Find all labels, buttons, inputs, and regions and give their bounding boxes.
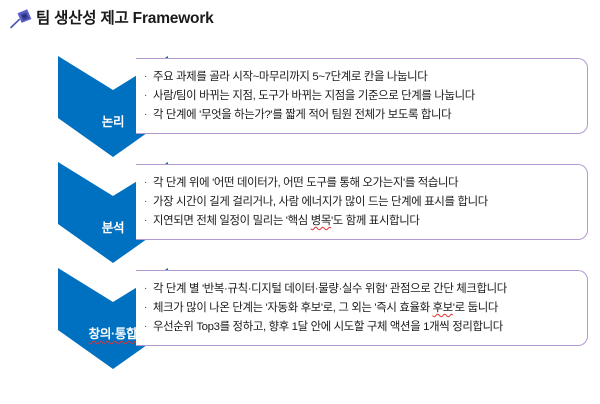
bullet-marker: · — [144, 70, 147, 84]
list-item: · 각 단계에 '무엇을 하는가?'를 짧게 적어 팀원 전체가 보도록 합니다 — [144, 108, 577, 122]
bullet-marker: · — [144, 195, 147, 209]
list-item: · 가장 시간이 길게 걸리거나, 사람 에너지가 많이 드는 단계에 표시를 … — [144, 195, 577, 209]
bullet-text: 주요 과제를 골라 시작~마무리까지 5~7단계로 칸을 나눕니다 — [153, 70, 577, 84]
step-detail-card-2: · 각 단계 위에 '어떤 데이터가, 어떤 도구를 통해 오가는지'를 적습니… — [136, 164, 588, 240]
list-item: · 우선순위 Top3를 정하고, 향후 1달 안에 시도할 구체 액션을 1개… — [144, 320, 577, 334]
bullet-marker: · — [144, 176, 147, 190]
process-step-row: 분석 · 각 단계 위에 '어떤 데이터가, 어떤 도구를 통해 오가는지'를 … — [0, 162, 600, 267]
step-detail-card-1: · 주요 과제를 골라 시작~마무리까지 5~7단계로 칸을 나눕니다 · 사람… — [136, 58, 588, 134]
bullet-text: 우선순위 Top3를 정하고, 향후 1달 안에 시도할 구체 액션을 1개씩 … — [153, 320, 577, 334]
step-detail-card-3: · 각 단계 별 '반복·규칙·디지털 데이터·물량·실수 위험' 관점으로 간… — [136, 270, 588, 346]
list-item: · 지연되면 전체 일정이 밀리는 '핵심 병목'도 함께 표시합니다 — [144, 214, 577, 228]
bullet-marker: · — [144, 282, 147, 296]
bullet-marker: · — [144, 301, 147, 315]
bullet-text: 각 단계에 '무엇을 하는가?'를 짧게 적어 팀원 전체가 보도록 합니다 — [153, 108, 577, 122]
bullet-text: 가장 시간이 길게 걸리거나, 사람 에너지가 많이 드는 단계에 표시를 합니… — [153, 195, 577, 209]
bullet-marker: · — [144, 320, 147, 334]
bullet-text-spellchecked: 지연되면 전체 일정이 밀리는 '핵심 병목'도 함께 표시합니다 — [153, 214, 577, 228]
process-step-row: 논리 · 주요 과제를 골라 시작~마무리까지 5~7단계로 칸을 나눕니다 ·… — [0, 56, 600, 161]
list-item: · 사람/팀이 바뀌는 지점, 도구가 바뀌는 지점을 기준으로 단계를 나눕니… — [144, 89, 577, 103]
list-item: · 체크가 많이 나온 단계는 '자동화 후보'로, 그 외는 '즉시 효율화 … — [144, 301, 577, 315]
bullet-text: 각 단계 위에 '어떤 데이터가, 어떤 도구를 통해 오가는지'를 적습니다 — [153, 176, 577, 190]
list-item: · 각 단계 별 '반복·규칙·디지털 데이터·물량·실수 위험' 관점으로 간… — [144, 282, 577, 296]
page-title: 팀 생산성 제고 Framework — [36, 11, 214, 27]
process-diagram: 논리 · 주요 과제를 골라 시작~마무리까지 5~7단계로 칸을 나눕니다 ·… — [0, 40, 600, 404]
pushpin-icon — [8, 7, 34, 31]
bullet-marker: · — [144, 108, 147, 122]
bullet-marker: · — [144, 214, 147, 228]
process-step-row: 창의·통합 · 각 단계 별 '반복·규칙·디지털 데이터·물량·실수 위험' … — [0, 268, 600, 373]
list-item: · 주요 과제를 골라 시작~마무리까지 5~7단계로 칸을 나눕니다 — [144, 70, 577, 84]
page-title-row: 팀 생산성 제고 Framework — [8, 6, 214, 32]
bullet-marker: · — [144, 89, 147, 103]
bullet-text: 사람/팀이 바뀌는 지점, 도구가 바뀌는 지점을 기준으로 단계를 나눕니다 — [153, 89, 577, 103]
list-item: · 각 단계 위에 '어떤 데이터가, 어떤 도구를 통해 오가는지'를 적습니… — [144, 176, 577, 190]
bullet-text-spellchecked: 체크가 많이 나온 단계는 '자동화 후보'로, 그 외는 '즉시 효율화 후보… — [153, 301, 577, 315]
bullet-text: 각 단계 별 '반복·규칙·디지털 데이터·물량·실수 위험' 관점으로 간단 … — [153, 282, 577, 296]
